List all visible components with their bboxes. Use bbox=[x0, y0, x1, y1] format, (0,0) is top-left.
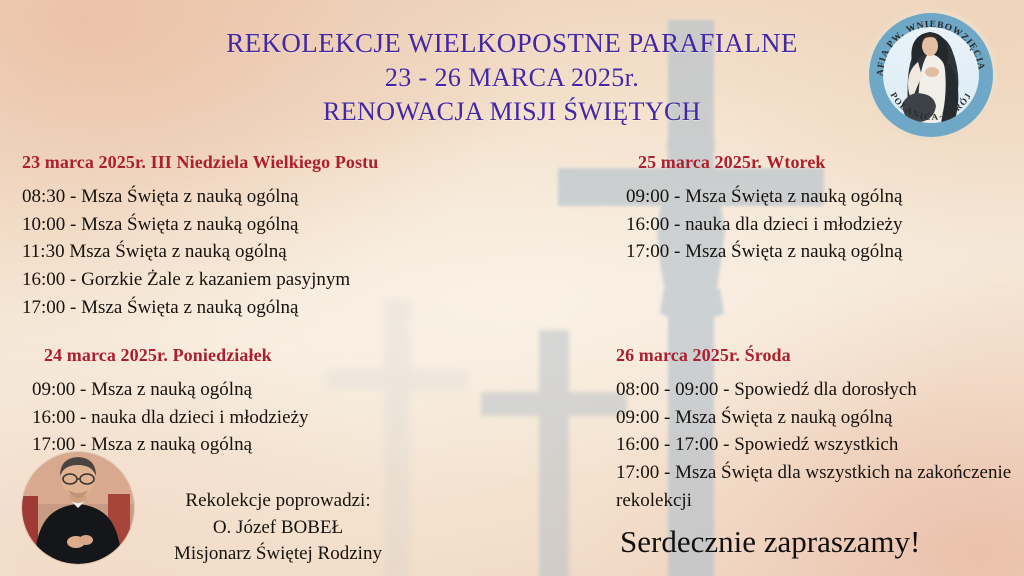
poster-canvas: REKOLEKCJE WIELKOPOSTNE PARAFIALNE 23 - … bbox=[0, 0, 1024, 576]
day-items-sunday: 08:30 - Msza Święta z nauką ogólną 10:00… bbox=[22, 183, 582, 322]
list-item: 16:00 - nauka dla dzieci i młodzieży bbox=[616, 211, 1016, 239]
list-item: 17:00 - Msza Święta z nauką ogólną bbox=[22, 294, 582, 322]
list-item: 08:00 - 09:00 - Spowiedź dla dorosłych bbox=[616, 376, 1016, 404]
list-item: 09:00 - Msza z nauką ogólną bbox=[22, 376, 582, 404]
list-item: 09:00 - Msza Święta z nauką ogólną bbox=[616, 404, 1016, 432]
schedule-block-wednesday: 26 marca 2025r. Środa 08:00 - 09:00 - Sp… bbox=[616, 345, 1016, 515]
list-item: 09:00 - Msza Święta z nauką ogólną bbox=[616, 183, 1016, 211]
leader-line-2: O. Józef BOBEŁ bbox=[128, 515, 428, 542]
list-item: 17:00 - Msza z nauką ogólną bbox=[22, 431, 582, 459]
leader-line-3: Misjonarz Świętej Rodziny bbox=[128, 541, 428, 568]
list-item: 17:00 - Msza Święta dla wszystkich na za… bbox=[616, 459, 1016, 514]
list-item: 17:00 - Msza Święta z nauką ogólną bbox=[616, 238, 1016, 266]
schedule-block-monday: 24 marca 2025r. Poniedziałek 09:00 - Msz… bbox=[22, 345, 582, 459]
day-items-wednesday: 08:00 - 09:00 - Spowiedź dla dorosłych 0… bbox=[616, 376, 1016, 515]
list-item: 08:30 - Msza Święta z nauką ogólną bbox=[22, 183, 582, 211]
schedule-block-tuesday: 25 marca 2025r. Wtorek 09:00 - Msza Świę… bbox=[616, 152, 1016, 266]
leader-line-1: Rekolekcje poprowadzi: bbox=[128, 488, 428, 515]
schedule-block-sunday: 23 marca 2025r. III Niedziela Wielkiego … bbox=[22, 152, 582, 322]
day-heading-sunday: 23 marca 2025r. III Niedziela Wielkiego … bbox=[22, 152, 582, 173]
list-item: 11:30 Msza Święta z nauką ogólną bbox=[22, 238, 582, 266]
day-items-tuesday: 09:00 - Msza Święta z nauką ogólną 16:00… bbox=[616, 183, 1016, 266]
list-item: 16:00 - nauka dla dzieci i młodzieży bbox=[22, 404, 582, 432]
priest-portrait-image bbox=[22, 452, 134, 564]
list-item: 16:00 - Gorzkie Żale z kazaniem pasyjnym bbox=[22, 266, 582, 294]
day-heading-wednesday: 26 marca 2025r. Środa bbox=[616, 345, 1016, 366]
day-items-monday: 09:00 - Msza z nauką ogólną 16:00 - nauk… bbox=[22, 376, 582, 459]
retreat-leader-text: Rekolekcje poprowadzi: O. Józef BOBEŁ Mi… bbox=[128, 488, 428, 568]
list-item: 10:00 - Msza Święta z nauką ogólną bbox=[22, 211, 582, 239]
list-item: 16:00 - 17:00 - Spowiedź wszystkich bbox=[616, 431, 1016, 459]
day-heading-monday: 24 marca 2025r. Poniedziałek bbox=[44, 345, 582, 366]
retreat-leader-photo bbox=[22, 452, 134, 564]
day-heading-tuesday: 25 marca 2025r. Wtorek bbox=[638, 152, 1016, 173]
invitation-text: Serdecznie zapraszamy! bbox=[620, 524, 920, 560]
parish-logo: PARAFIA PW. WNIEBOWZIĘCIA NMP POLANICA-Z… bbox=[862, 6, 1000, 144]
